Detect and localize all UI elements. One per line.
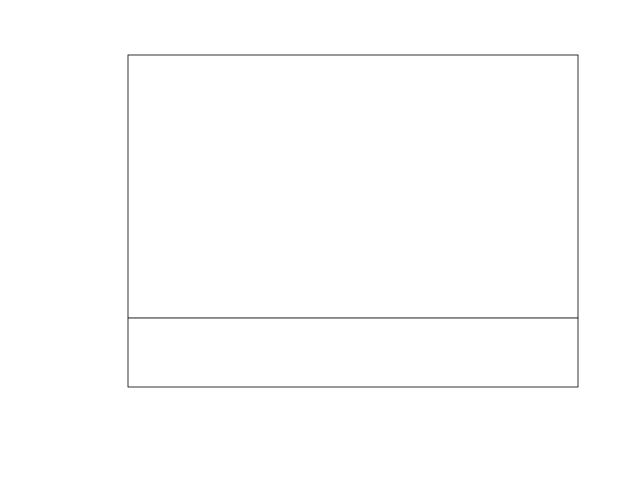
top-panel-background — [128, 55, 578, 318]
top-panel-scatter — [128, 55, 578, 318]
plot-canvas — [0, 0, 640, 480]
bottom-panel-histogram — [128, 318, 578, 387]
matplotlib-figure — [0, 0, 640, 480]
bottom-panel-background — [128, 318, 578, 387]
